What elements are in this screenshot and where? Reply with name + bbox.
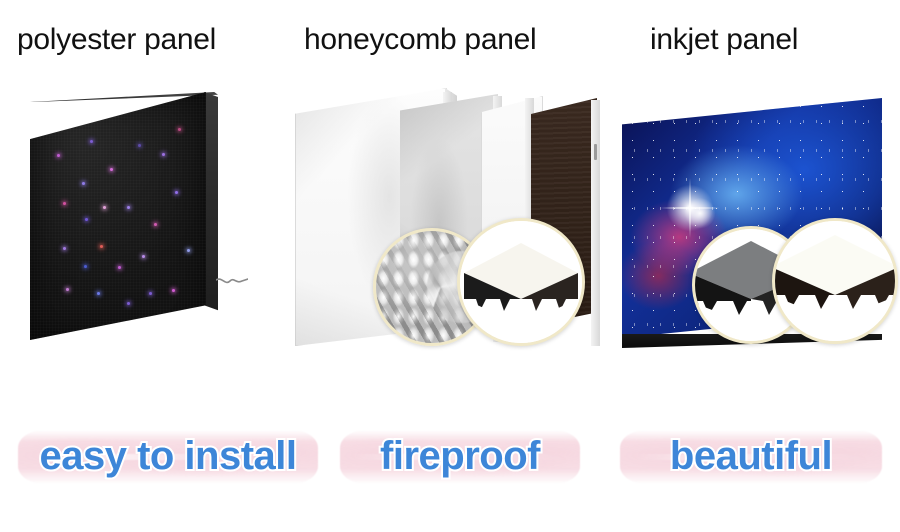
led-dot <box>142 255 145 258</box>
led-dot <box>162 153 165 156</box>
product-comparison-banner: polyester panel honeycomb panel inkjet p… <box>0 0 900 532</box>
caption-easy-to-install: easy to install <box>18 422 318 492</box>
led-dot <box>90 140 93 143</box>
heading-inkjet-panel: inkjet panel <box>650 22 798 58</box>
led-dot <box>127 302 130 305</box>
led-dot <box>84 265 87 268</box>
caption-text: easy to install <box>18 428 318 484</box>
slab-rail <box>591 100 600 346</box>
led-dot <box>63 202 66 205</box>
edge-cross-section-illustration <box>460 221 582 343</box>
honeycomb-slabs-image <box>295 88 595 358</box>
led-dot <box>100 245 103 248</box>
led-dot <box>154 223 157 226</box>
product-cell-inkjet <box>600 80 900 390</box>
led-dot <box>82 182 85 185</box>
white-face-core-callout <box>772 218 898 344</box>
panel-edge-callout <box>457 218 585 346</box>
led-dot <box>97 292 100 295</box>
led-dot <box>103 206 106 209</box>
inkjet-galaxy-panel-image <box>622 98 882 338</box>
led-dot <box>118 266 121 269</box>
heading-polyester-panel: polyester panel <box>17 22 216 58</box>
led-dot <box>138 144 141 147</box>
caption-beautiful: beautiful <box>620 422 882 492</box>
led-dot <box>110 168 113 171</box>
led-dot <box>66 288 69 291</box>
caption-fireproof: fireproof <box>340 422 580 492</box>
product-cell-polyester <box>0 80 290 390</box>
panel-front-face <box>30 92 206 340</box>
heading-honeycomb-panel: honeycomb panel <box>304 22 536 58</box>
caption-text: fireproof <box>340 428 580 484</box>
panel-side-edge <box>204 92 218 340</box>
product-cell-honeycomb <box>290 80 600 390</box>
led-dot <box>175 191 178 194</box>
led-dot <box>63 247 66 250</box>
led-dot <box>57 154 60 157</box>
led-dot <box>127 206 130 209</box>
led-dot <box>178 128 181 131</box>
polyester-star-panel-image <box>30 92 230 352</box>
led-dot <box>149 292 152 295</box>
caption-text: beautiful <box>620 428 882 484</box>
led-dot <box>172 289 175 292</box>
led-dot <box>187 249 190 252</box>
rail-notch <box>594 144 597 160</box>
led-dot <box>85 218 88 221</box>
power-wire-icon <box>216 272 248 292</box>
white-core-cross-section-illustration <box>775 221 895 341</box>
